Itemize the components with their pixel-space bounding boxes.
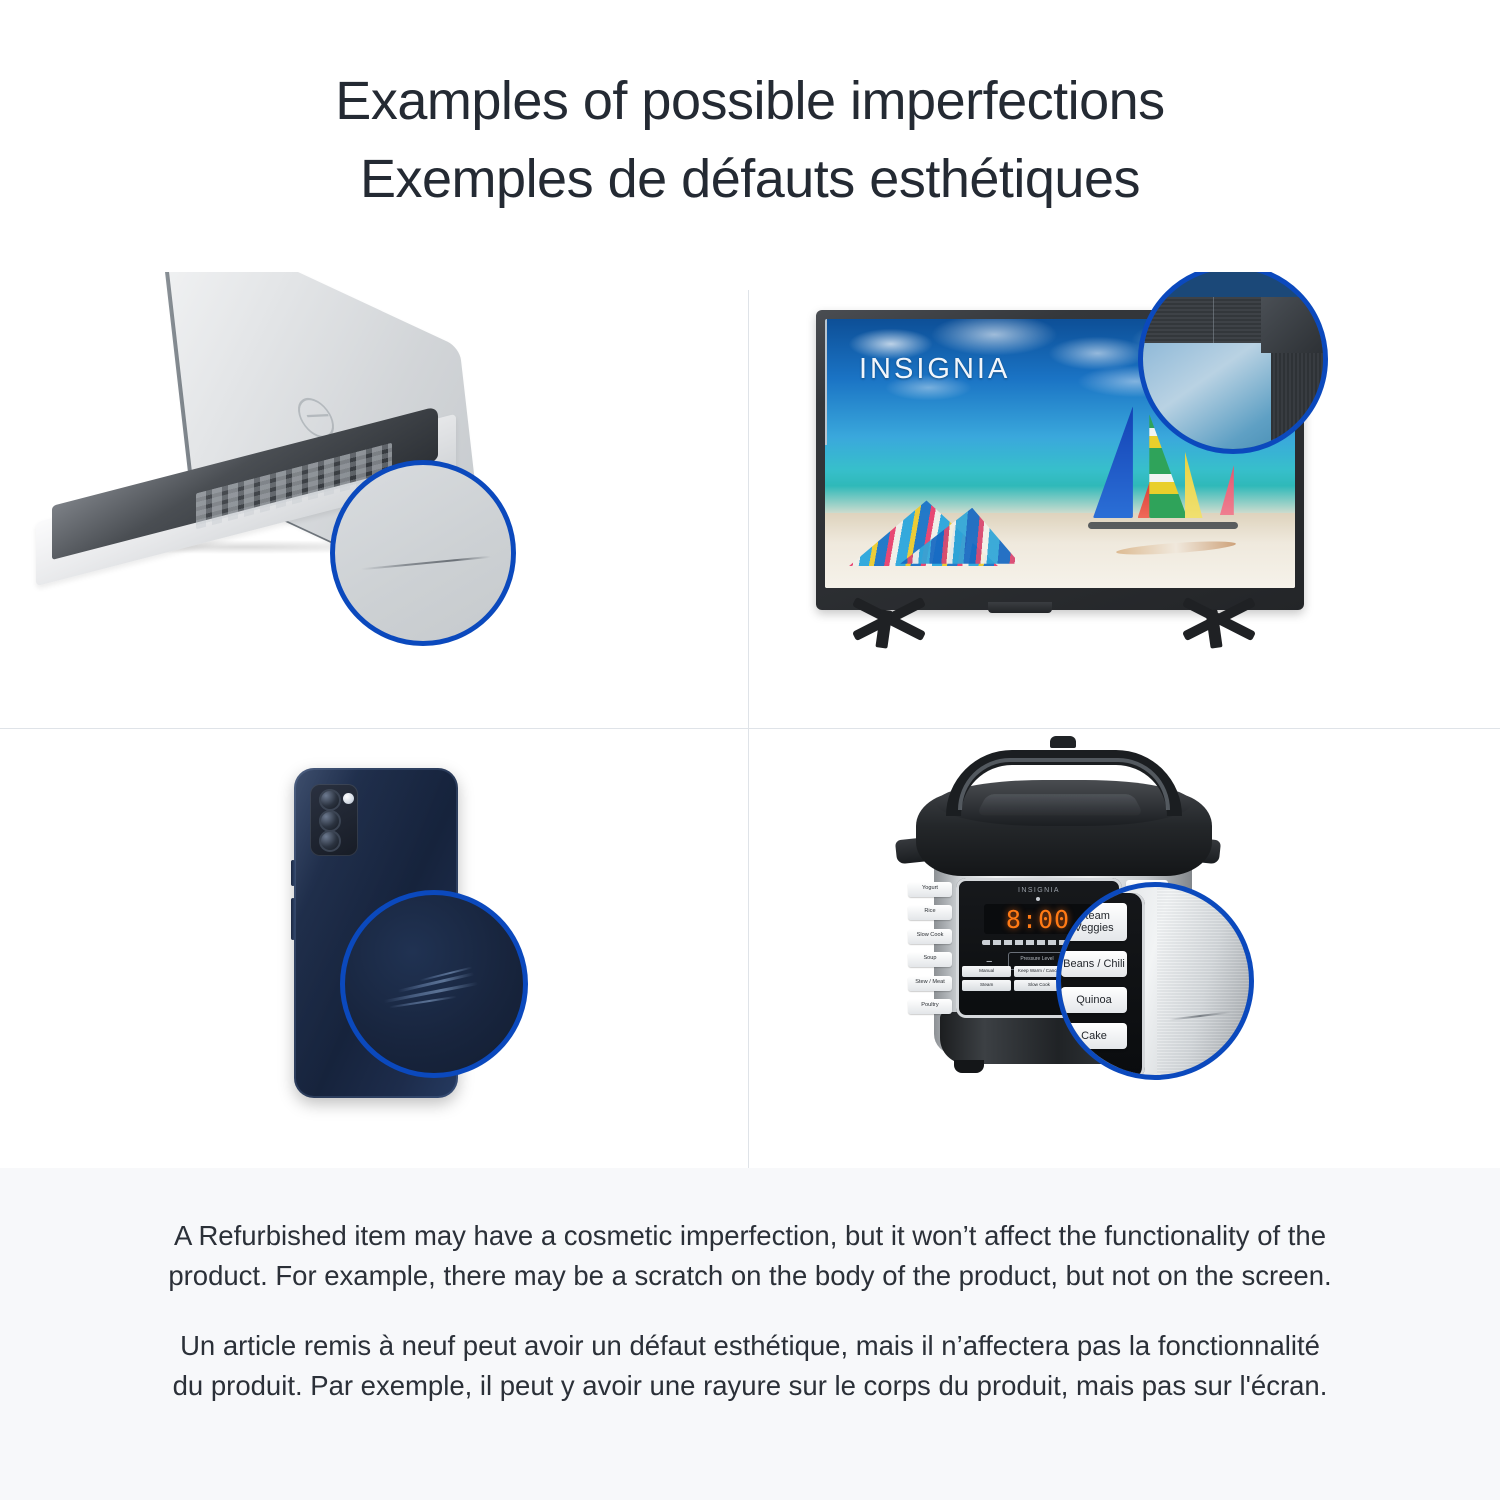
phone-power-button [291, 860, 295, 886]
cooker-key[interactable]: Slow Cook [908, 929, 952, 944]
footer-section: A Refurbished item may have a cosmetic i… [0, 1168, 1500, 1500]
title-line-fr: Exemples de défauts esthétiques [0, 140, 1500, 218]
magnifier-circle-television [1138, 272, 1328, 454]
cooker-steam-valve [1050, 736, 1076, 748]
cooker-key[interactable]: Poultry [908, 999, 952, 1014]
scratch-mark [361, 556, 491, 570]
magnifier-circle-laptop [330, 460, 516, 646]
cell-television: INSIGNIA [750, 272, 1498, 722]
magnified-tv-seam [1213, 297, 1214, 343]
footer-paragraph-en: A Refurbished item may have a cosmetic i… [165, 1216, 1335, 1296]
camera-lens-3-icon [319, 830, 341, 852]
footer-content: A Refurbished item may have a cosmetic i… [165, 1168, 1335, 1406]
grid-vertical-divider [748, 290, 749, 1168]
title-line-en: Examples of possible imperfections [0, 62, 1500, 140]
tv-stand-bar [988, 602, 1052, 613]
magnified-steel-surface [1157, 887, 1254, 1080]
phone-volume-button [291, 898, 295, 940]
cooker-indicator-lamp [1036, 897, 1040, 901]
magnified-key-column: Steam Veggies Beans / Chili Quinoa Cake [1061, 903, 1127, 1049]
television-illustration: INSIGNIA [750, 272, 1498, 722]
cooker-left-key-column[interactable]: Yogurt Rice Slow Cook Soup Stew / Meat P… [908, 882, 952, 1014]
cooker-handle-highlight [958, 758, 1170, 810]
tv-brand-logo: INSIGNIA [859, 353, 1010, 386]
cooker-foot-left [954, 1060, 984, 1073]
smartphone-illustration [0, 730, 748, 1180]
cooker-key[interactable]: Steam [962, 980, 1011, 991]
cell-smartphone [0, 730, 748, 1180]
magnified-key: Beans / Chili [1061, 951, 1127, 977]
cooker-key[interactable]: Manual [962, 966, 1011, 977]
magnified-tv-screen [1143, 341, 1275, 454]
cell-laptop [0, 272, 748, 722]
tv-screen-sail-red [1138, 482, 1150, 518]
examples-grid: INSIGNIA [0, 272, 1500, 1168]
phone-camera-module [310, 784, 358, 856]
camera-lens-1-icon [319, 789, 341, 811]
footer-paragraph-fr: Un article remis à neuf peut avoir un dé… [165, 1326, 1335, 1406]
camera-lens-2-icon [319, 810, 341, 832]
magnifier-circle-smartphone [340, 890, 528, 1078]
cooker-key[interactable]: Rice [908, 905, 952, 920]
cell-pressure-cooker: INSIGNIA 8:00 − + Pressure Level Yogurt … [750, 730, 1498, 1180]
magnifier-circle-pressure-cooker: Delay Slow Cook Steam Veggies Beans / Ch… [1056, 882, 1254, 1080]
cooker-key[interactable]: Stew / Meat [908, 976, 952, 991]
laptop-illustration [0, 272, 748, 722]
cooker-key[interactable]: Yogurt [908, 882, 952, 897]
tv-screen-boat-hull [1088, 522, 1238, 529]
magnified-key: Cake [1061, 1023, 1127, 1049]
magnified-tv-corner [1261, 297, 1328, 353]
cooker-key[interactable]: Soup [908, 952, 952, 967]
page-title: Examples of possible imperfections Exemp… [0, 62, 1500, 218]
magnified-key: Steam Veggies [1061, 903, 1127, 941]
magnified-control-panel: Delay Slow Cook Steam Veggies Beans / Ch… [1056, 893, 1145, 1079]
infographic-page: Examples of possible imperfections Exemp… [0, 0, 1500, 1500]
magnified-key: Quinoa [1061, 987, 1127, 1013]
grid-horizontal-divider [0, 728, 1500, 729]
camera-flash-icon [343, 793, 354, 804]
pressure-cooker-illustration: INSIGNIA 8:00 − + Pressure Level Yogurt … [750, 730, 1498, 1180]
